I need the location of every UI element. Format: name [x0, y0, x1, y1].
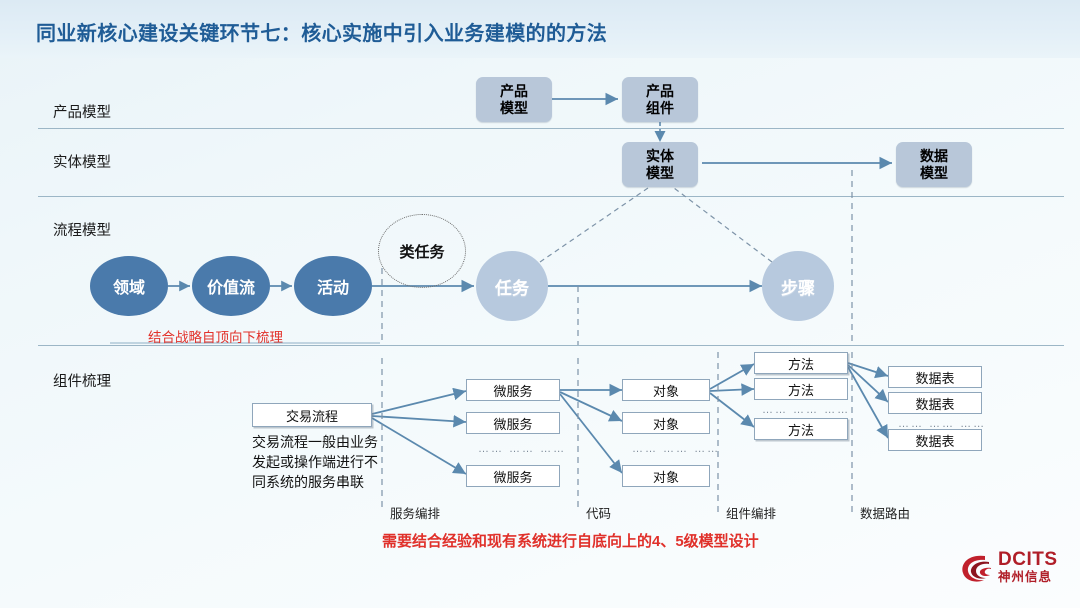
box-data-model-line2: 模型 [920, 165, 948, 182]
circle-task[interactable]: 任务 [476, 251, 548, 321]
dcits-swirl-icon [958, 548, 998, 590]
row-label-entity-model: 实体模型 [53, 151, 111, 172]
box-microservice-3[interactable]: 微服务 [466, 465, 560, 487]
box-product-component-line1: 产品 [646, 83, 674, 100]
column-label-component-orchestration: 组件编排 [726, 503, 776, 522]
column-label-service-orchestration: 服务编排 [390, 503, 440, 522]
box-entity-model[interactable]: 实体 模型 [622, 142, 698, 187]
circle-step[interactable]: 步骤 [762, 251, 834, 321]
box-data-model[interactable]: 数据 模型 [896, 142, 972, 187]
box-microservice-2[interactable]: 微服务 [466, 412, 560, 434]
row-separator-2 [38, 196, 1064, 197]
box-microservice-1[interactable]: 微服务 [466, 379, 560, 401]
ellipsis-method: …… …… …… [762, 404, 850, 416]
box-product-component[interactable]: 产品 组件 [622, 77, 698, 122]
box-entity-model-line2: 模型 [646, 165, 674, 182]
slide-canvas: 同业新核心建设关键环节七：核心实施中引入业务建模的的方法 产品模型 实体模型 流… [0, 0, 1080, 608]
column-label-code: 代码 [586, 503, 611, 522]
row-label-component-sorting: 组件梳理 [53, 370, 111, 391]
box-object-1[interactable]: 对象 [622, 379, 710, 401]
note-strategy-topdown: 结合战略自顶向下梳理 [148, 326, 283, 346]
box-product-component-line2: 组件 [646, 100, 674, 117]
box-entity-model-line1: 实体 [646, 148, 674, 165]
company-logo: DCITS 神州信息 [958, 548, 1070, 594]
row-label-product-model: 产品模型 [53, 101, 111, 122]
box-object-2[interactable]: 对象 [622, 412, 710, 434]
logo-cn-text: 神州信息 [998, 570, 1058, 585]
circle-activity[interactable]: 活动 [294, 256, 372, 316]
row-label-process-model: 流程模型 [53, 219, 111, 240]
column-label-data-routing: 数据路由 [860, 503, 910, 522]
box-data-table-1[interactable]: 数据表 [888, 366, 982, 388]
box-method-2[interactable]: 方法 [754, 378, 848, 400]
page-title: 同业新核心建设关键环节七：核心实施中引入业务建模的的方法 [36, 17, 607, 46]
logo-text: DCITS 神州信息 [998, 550, 1058, 585]
box-trade-flow[interactable]: 交易流程 [252, 403, 372, 427]
box-data-table-3[interactable]: 数据表 [888, 429, 982, 451]
box-product-model-line1: 产品 [500, 83, 528, 100]
box-data-table-2[interactable]: 数据表 [888, 392, 982, 414]
box-data-model-line1: 数据 [920, 148, 948, 165]
circle-domain[interactable]: 领域 [90, 256, 168, 316]
circle-value-stream[interactable]: 价值流 [192, 256, 270, 316]
circle-class-task[interactable]: 类任务 [378, 214, 466, 288]
ellipsis-object: …… …… …… [632, 443, 720, 455]
box-object-3[interactable]: 对象 [622, 465, 710, 487]
row-separator-1 [38, 128, 1064, 129]
box-product-model[interactable]: 产品 模型 [476, 77, 552, 122]
box-product-model-line2: 模型 [500, 100, 528, 117]
logo-en-text: DCITS [998, 550, 1058, 570]
ellipsis-microservice: …… …… …… [478, 443, 566, 455]
box-method-3[interactable]: 方法 [754, 418, 848, 440]
box-method-1[interactable]: 方法 [754, 352, 848, 374]
text-trade-flow-description: 交易流程一般由业务发起或操作端进行不同系统的服务串联 [252, 432, 378, 492]
note-bottom-up-model-design: 需要结合经验和现有系统进行自底向上的4、5级模型设计 [382, 530, 759, 551]
